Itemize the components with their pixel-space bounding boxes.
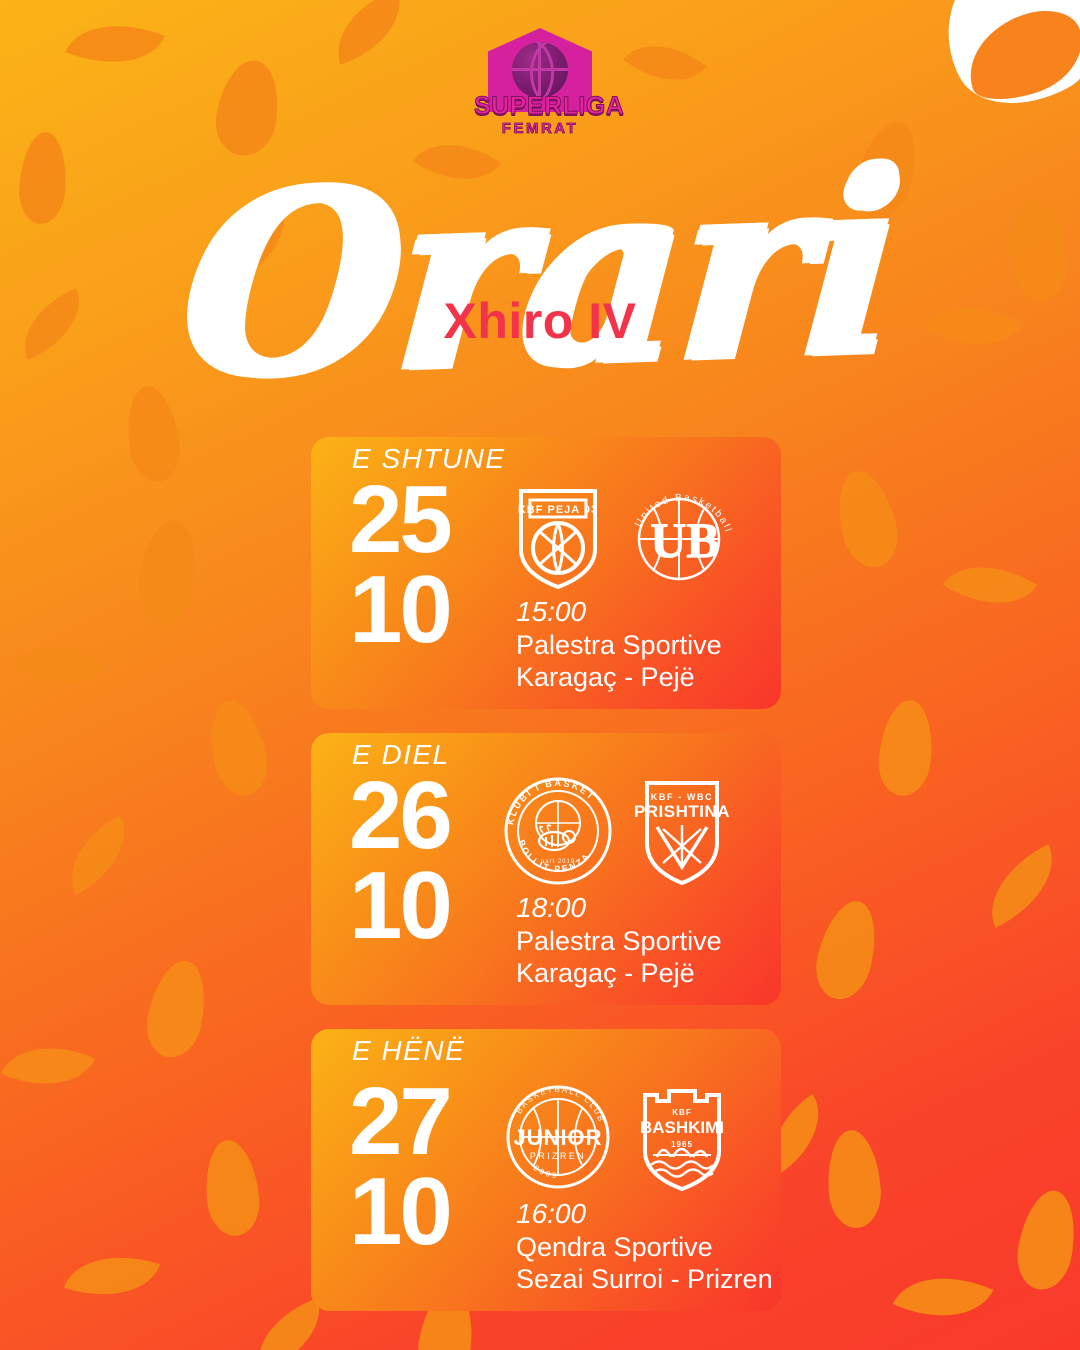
match-list: E SHTUNE 25 10 KBF PEJA 03 (311, 437, 781, 1311)
team-crests: KLUBI I BASKET BOLLIT PENZA part 2019 (499, 771, 769, 891)
svg-text:PRISHTINA: PRISHTINA (634, 802, 730, 821)
svg-text:BASKETBALL CLUB: BASKETBALL CLUB (514, 1085, 606, 1124)
away-team-crest-bashkimi: KBF BASHKIMI 1965 (623, 1077, 741, 1195)
svg-text:2009: 2009 (532, 1163, 559, 1180)
match-day-label: E HËNË (352, 1035, 465, 1067)
match-venue: Qendra Sportive Sezai Surroi - Prizren (516, 1231, 781, 1295)
team-crests: KBF PEJA 03 United Basketball (499, 475, 769, 595)
date-day: 27 (349, 1077, 509, 1167)
svg-text:JUNIOR: JUNIOR (513, 1125, 602, 1150)
home-team-crest-junior-prizren: BASKETBALL CLUB 2009 JUNIOR PRIZREN (499, 1077, 617, 1195)
svg-text:BASHKIMI: BASHKIMI (640, 1118, 724, 1137)
home-team-crest-penza: KLUBI I BASKET BOLLIT PENZA part 2019 (499, 771, 617, 889)
team-crests: BASKETBALL CLUB 2009 JUNIOR PRIZREN KBF … (499, 1077, 769, 1197)
match-info: 18:00 Palestra Sportive Karagaç - Pejë (516, 891, 781, 989)
home-team-crest-kbf-peja-03: KBF PEJA 03 (499, 475, 617, 593)
title-brush-art: Orari (0, 150, 1080, 400)
venue-line-1: Palestra Sportive (516, 629, 781, 661)
match-venue: Palestra Sportive Karagaç - Pejë (516, 629, 781, 693)
svg-text:part 2019: part 2019 (541, 859, 575, 865)
date-day: 26 (349, 771, 509, 861)
date-month: 10 (349, 565, 509, 655)
page-title: Orari (0, 131, 1080, 419)
match-time: 18:00 (516, 891, 781, 925)
date-month: 10 (349, 1167, 509, 1257)
match-venue: Palestra Sportive Karagaç - Pejë (516, 925, 781, 989)
date-day: 25 (349, 475, 509, 565)
schedule-poster: SUPERLIGA FEMRAT Orari Xhiro IV E SHTUNE… (0, 0, 1080, 1350)
svg-text:PRIZREN: PRIZREN (530, 1151, 586, 1161)
match-card[interactable]: E HËNË 27 10 BASKETBALL CLUB (311, 1029, 781, 1311)
svg-text:KBF - WBC: KBF - WBC (651, 792, 713, 802)
venue-line-2: Sezai Surroi - Prizren (516, 1263, 781, 1295)
match-info: 16:00 Qendra Sportive Sezai Surroi - Pri… (516, 1197, 781, 1295)
match-info: 15:00 Palestra Sportive Karagaç - Pejë (516, 595, 781, 693)
venue-line-2: Karagaç - Pejë (516, 661, 781, 693)
date-month: 10 (349, 861, 509, 951)
venue-line-1: Palestra Sportive (516, 925, 781, 957)
match-date: 25 10 (349, 475, 509, 655)
round-label: Xhiro IV (0, 292, 1080, 350)
venue-line-1: Qendra Sportive (516, 1231, 781, 1263)
match-card[interactable]: E DIEL 26 10 KLUBI I BASKET (311, 733, 781, 1005)
svg-text:UB: UB (650, 512, 719, 568)
match-time: 15:00 (516, 595, 781, 629)
svg-text:1965: 1965 (671, 1140, 693, 1149)
venue-line-2: Karagaç - Pejë (516, 957, 781, 989)
match-date: 27 10 (349, 1077, 509, 1257)
match-time: 16:00 (516, 1197, 781, 1231)
basketball-icon (512, 42, 568, 98)
logo-wordmark: SUPERLIGA (474, 94, 606, 119)
svg-text:KBF PEJA 03: KBF PEJA 03 (518, 504, 598, 516)
svg-text:KBF: KBF (672, 1108, 691, 1117)
away-team-crest-prishtina: KBF - WBC PRISHTINA (623, 771, 741, 889)
match-date: 26 10 (349, 771, 509, 951)
away-team-crest-united-basketball: United Basketball UB (623, 475, 741, 593)
match-card[interactable]: E SHTUNE 25 10 KBF PEJA 03 (311, 437, 781, 709)
